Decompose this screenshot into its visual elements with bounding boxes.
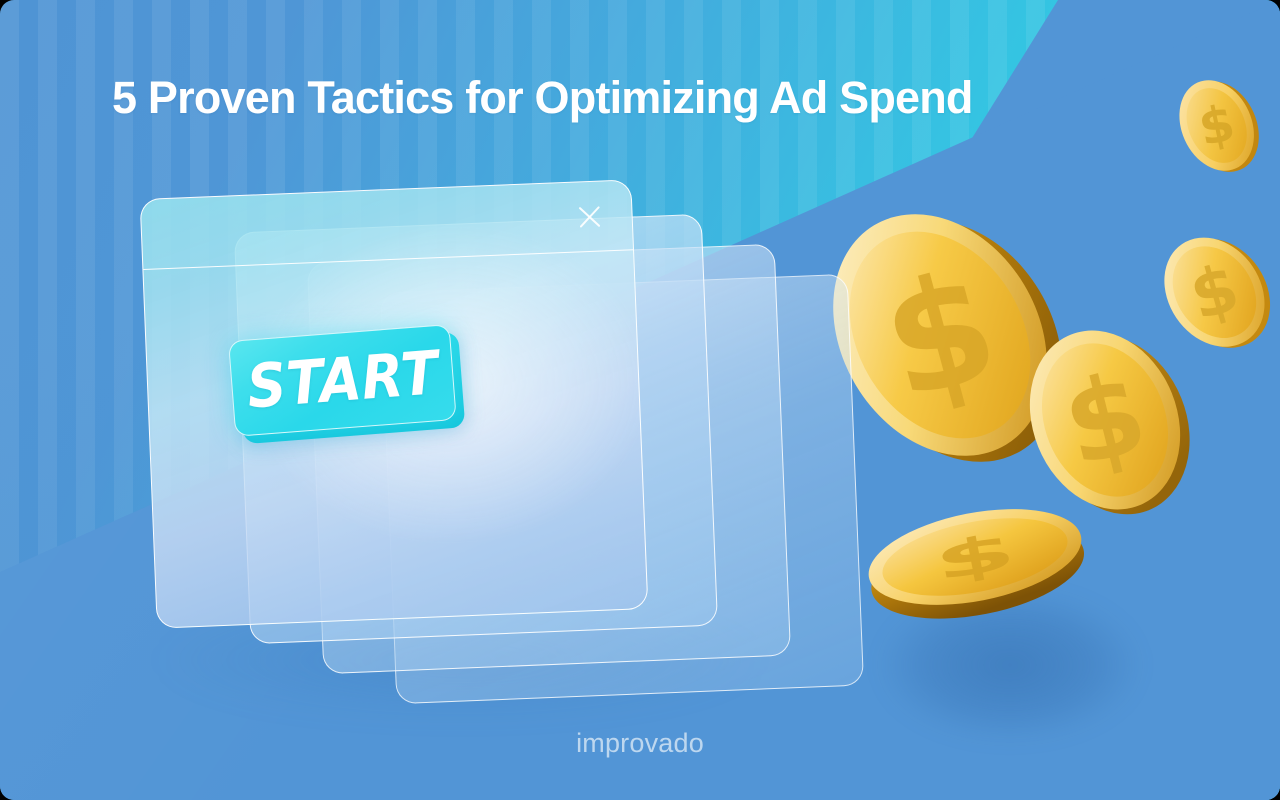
start-button-label: START — [245, 343, 441, 418]
close-icon[interactable] — [575, 202, 604, 231]
start-button-wrapper: START — [228, 323, 468, 452]
window-card-stack: START — [0, 0, 1280, 800]
brand-logo: improvado — [0, 728, 1280, 759]
window-titlebar — [141, 180, 633, 270]
start-button[interactable]: START — [228, 324, 457, 437]
banner-image: 5 Proven Tactics for Optimizing Ad Spend… — [0, 0, 1280, 800]
